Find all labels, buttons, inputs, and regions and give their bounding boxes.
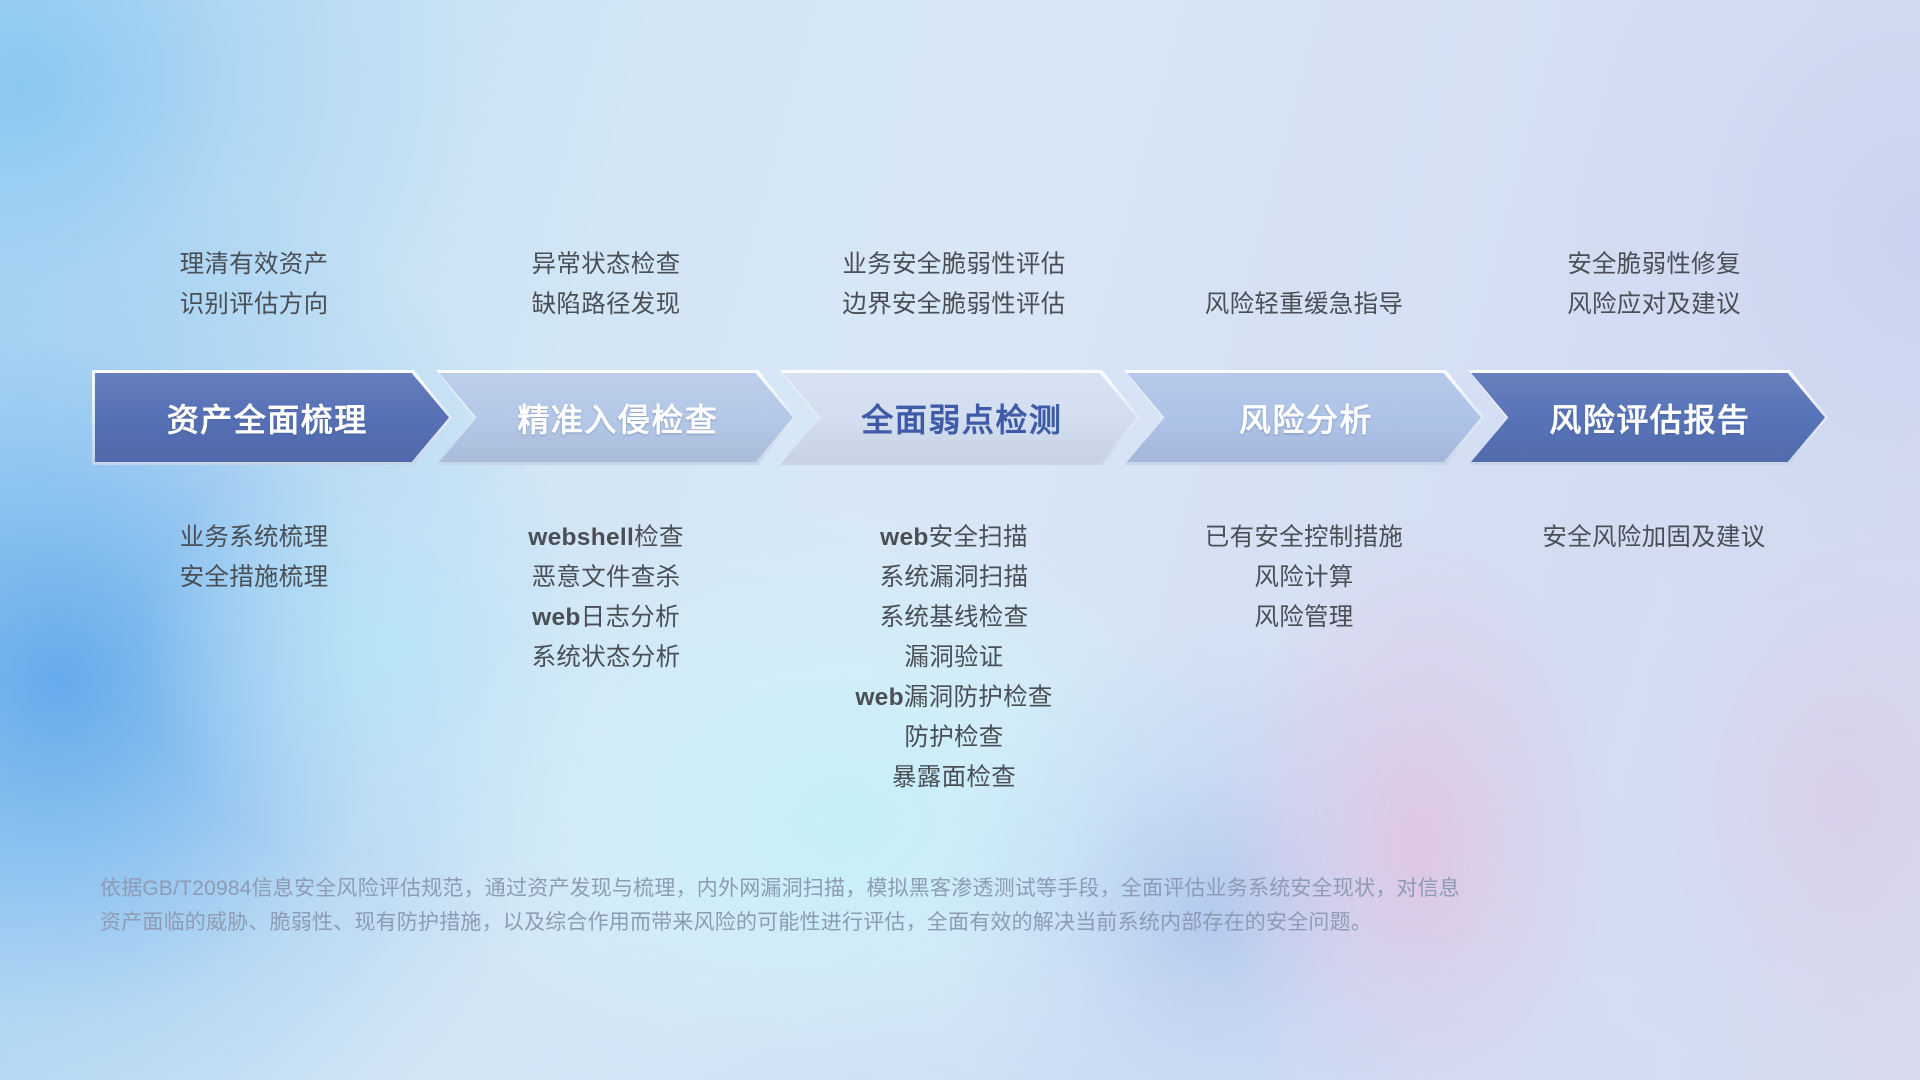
stage-bottom-item: web安全扫描 xyxy=(774,518,1134,558)
stage-bottom-items-intrusion-check: webshell检查恶意文件查杀web日志分析系统状态分析 xyxy=(426,518,786,678)
stage-top-items-weakness-detection: 业务安全脆弱性评估边界安全脆弱性评估 xyxy=(774,245,1134,325)
stage-bottom-item: webshell检查 xyxy=(426,518,786,558)
process-chevron-band: 资产全面梳理精准入侵检查全面弱点检测风险分析风险评估报告 xyxy=(0,370,1920,465)
stage-bottom-item-text: 防护检查 xyxy=(904,724,1003,751)
process-step-risk-report[interactable]: 风险评估报告 xyxy=(1468,370,1828,465)
stage-top-item: 理清有效资产 xyxy=(74,245,434,285)
stage-bottom-item-text: 暴露面检查 xyxy=(892,764,1016,791)
stage-bottom-item-text: 检查 xyxy=(634,524,684,551)
stage-top-item: 边界安全脆弱性评估 xyxy=(774,285,1134,325)
stage-bottom-item: web漏洞防护检查 xyxy=(774,678,1134,718)
footer-line-2: 资产面临的威胁、脆弱性、现有防护措施，以及综合作用而带来风险的可能性进行评估，全… xyxy=(100,906,1660,940)
stage-bottom-item: 漏洞验证 xyxy=(774,638,1134,678)
stage-bottom-item: 已有安全控制措施 xyxy=(1124,518,1484,558)
stage-bottom-item: 风险计算 xyxy=(1124,558,1484,598)
stage-bottom-item-lead: web xyxy=(880,524,929,551)
stage-bottom-item-text: 风险计算 xyxy=(1254,564,1353,591)
stage-bottom-item-text: 安全风险加固及建议 xyxy=(1542,524,1765,551)
stage-bottom-item-lead: web xyxy=(855,684,904,711)
stage-top-item: 风险轻重缓急指导 xyxy=(1124,285,1484,325)
stage-top-items-intrusion-check: 异常状态检查缺陷路径发现 xyxy=(426,245,786,325)
process-step-label: 全面弱点检测 xyxy=(861,395,1062,441)
process-step-label: 精准入侵检查 xyxy=(517,395,718,441)
stage-bottom-item-text: 已有安全控制措施 xyxy=(1205,524,1403,551)
stage-bottom-item-text: 恶意文件查杀 xyxy=(532,564,681,591)
process-step-risk-analysis[interactable]: 风险分析 xyxy=(1124,370,1484,465)
stage-bottom-item-text: 业务系统梳理 xyxy=(180,524,329,551)
stage-bottom-item: 安全风险加固及建议 xyxy=(1474,518,1834,558)
stage-bottom-item-text: 系统漏洞扫描 xyxy=(880,564,1029,591)
process-step-weakness-detection[interactable]: 全面弱点检测 xyxy=(780,370,1140,465)
stage-bottom-item-text: 日志分析 xyxy=(581,604,680,631)
stage-top-items-asset-inventory: 理清有效资产识别评估方向 xyxy=(74,245,434,325)
stage-top-item: 安全脆弱性修复 xyxy=(1474,245,1834,285)
stage-bottom-item: 防护检查 xyxy=(774,718,1134,758)
stage-bottom-item: 系统状态分析 xyxy=(426,638,786,678)
stage-bottom-item: 安全措施梳理 xyxy=(74,558,434,598)
process-step-asset-inventory[interactable]: 资产全面梳理 xyxy=(92,370,452,465)
stage-bottom-items-risk-report: 安全风险加固及建议 xyxy=(1474,518,1834,558)
slide-canvas: 资产全面梳理精准入侵检查全面弱点检测风险分析风险评估报告 理清有效资产识别评估方… xyxy=(0,0,1920,1080)
stage-bottom-item: 风险管理 xyxy=(1124,598,1484,638)
stage-bottom-item: web日志分析 xyxy=(426,598,786,638)
process-step-label: 风险评估报告 xyxy=(1549,395,1750,441)
footer-description: 依据GB/T20984信息安全风险评估规范，通过资产发现与梳理，内外网漏洞扫描，… xyxy=(100,872,1660,940)
stage-bottom-item-text: 系统基线检查 xyxy=(880,604,1029,631)
stage-bottom-item: 业务系统梳理 xyxy=(74,518,434,558)
stage-top-items-risk-analysis: 风险轻重缓急指导 xyxy=(1124,285,1484,325)
stage-bottom-items-weakness-detection: web安全扫描系统漏洞扫描系统基线检查漏洞验证web漏洞防护检查防护检查暴露面检… xyxy=(774,518,1134,798)
stage-top-item: 业务安全脆弱性评估 xyxy=(774,245,1134,285)
stage-bottom-item-text: 安全扫描 xyxy=(929,524,1028,551)
stage-bottom-item-text: 漏洞防护检查 xyxy=(904,684,1053,711)
stage-top-item: 缺陷路径发现 xyxy=(426,285,786,325)
stage-bottom-item-text: 系统状态分析 xyxy=(532,644,681,671)
stage-bottom-item: 恶意文件查杀 xyxy=(426,558,786,598)
stage-top-item: 风险应对及建议 xyxy=(1474,285,1834,325)
footer-line-1: 依据GB/T20984信息安全风险评估规范，通过资产发现与梳理，内外网漏洞扫描，… xyxy=(100,872,1660,906)
stage-bottom-items-risk-analysis: 已有安全控制措施风险计算风险管理 xyxy=(1124,518,1484,638)
stage-bottom-item-text: 风险管理 xyxy=(1254,604,1353,631)
stage-bottom-item: 暴露面检查 xyxy=(774,758,1134,798)
stage-bottom-item-text: 漏洞验证 xyxy=(904,644,1003,671)
stage-bottom-item-lead: webshell xyxy=(528,524,634,551)
stage-bottom-item-lead: web xyxy=(532,604,581,631)
stage-top-item: 异常状态检查 xyxy=(426,245,786,285)
stage-top-item: 识别评估方向 xyxy=(74,285,434,325)
stage-bottom-item-text: 安全措施梳理 xyxy=(180,564,329,591)
stage-bottom-item: 系统漏洞扫描 xyxy=(774,558,1134,598)
stage-bottom-item: 系统基线检查 xyxy=(774,598,1134,638)
process-step-label: 风险分析 xyxy=(1239,395,1373,441)
process-step-intrusion-check[interactable]: 精准入侵检查 xyxy=(436,370,796,465)
stage-top-items-risk-report: 安全脆弱性修复风险应对及建议 xyxy=(1474,245,1834,325)
process-step-label: 资产全面梳理 xyxy=(167,395,368,441)
stage-bottom-items-asset-inventory: 业务系统梳理安全措施梳理 xyxy=(74,518,434,598)
